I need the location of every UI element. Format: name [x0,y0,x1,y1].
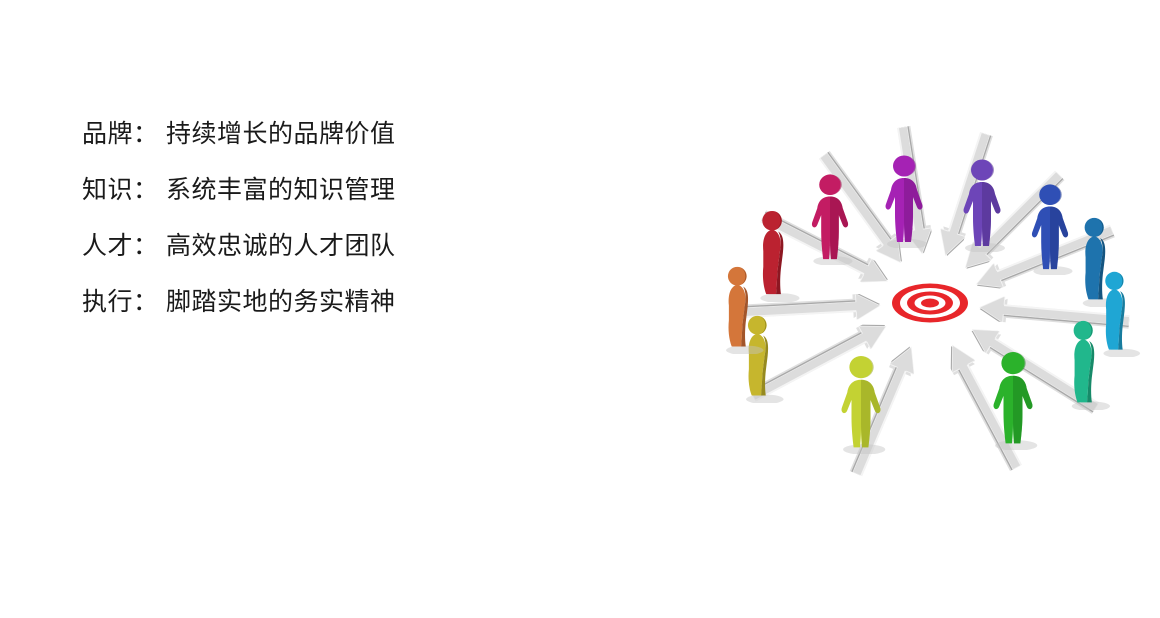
slide-canvas: 品牌： 持续增长的品牌价值 知识： 系统丰富的知识管理 人才： 高效忠诚的人才团… [0,0,1160,618]
text-line-execution-label: 执行： [82,288,159,316]
person-orange-icon [717,264,768,354]
text-line-brand: 品牌： 持续增长的品牌价值 [82,106,512,162]
text-line-knowledge-value: 系统丰富的知识管理 [166,176,396,204]
text-line-knowledge-label: 知识： [82,176,159,204]
person-crimson-icon [804,171,857,265]
text-line-talent: 人才： 高效忠诚的人才团队 [82,218,512,274]
text-line-brand-label: 品牌： [82,120,159,148]
person-violet-icon [955,156,1009,252]
person-teal-green-icon [1062,318,1114,410]
person-magenta-icon [877,152,931,248]
text-line-talent-label: 人才： [82,232,159,260]
text-line-talent-value: 高效忠诚的人才团队 [166,232,396,260]
person-royal-blue-icon [1024,181,1077,275]
text-line-execution: 执行： 脚踏实地的务实精神 [82,274,512,330]
bullseye-target-icon [890,282,970,324]
text-line-knowledge: 知识： 系统丰富的知识管理 [82,162,512,218]
illustration-stage [690,108,1160,498]
key-values-text-block: 品牌： 持续增长的品牌价值 知识： 系统丰富的知识管理 人才： 高效忠诚的人才团… [82,106,512,330]
text-line-brand-value: 持续增长的品牌价值 [166,120,396,148]
people-converging-illustration [690,108,1160,498]
person-green-icon [984,348,1041,450]
person-yellow-green-icon [833,352,890,454]
text-line-execution-value: 脚踏实地的务实精神 [166,288,396,316]
